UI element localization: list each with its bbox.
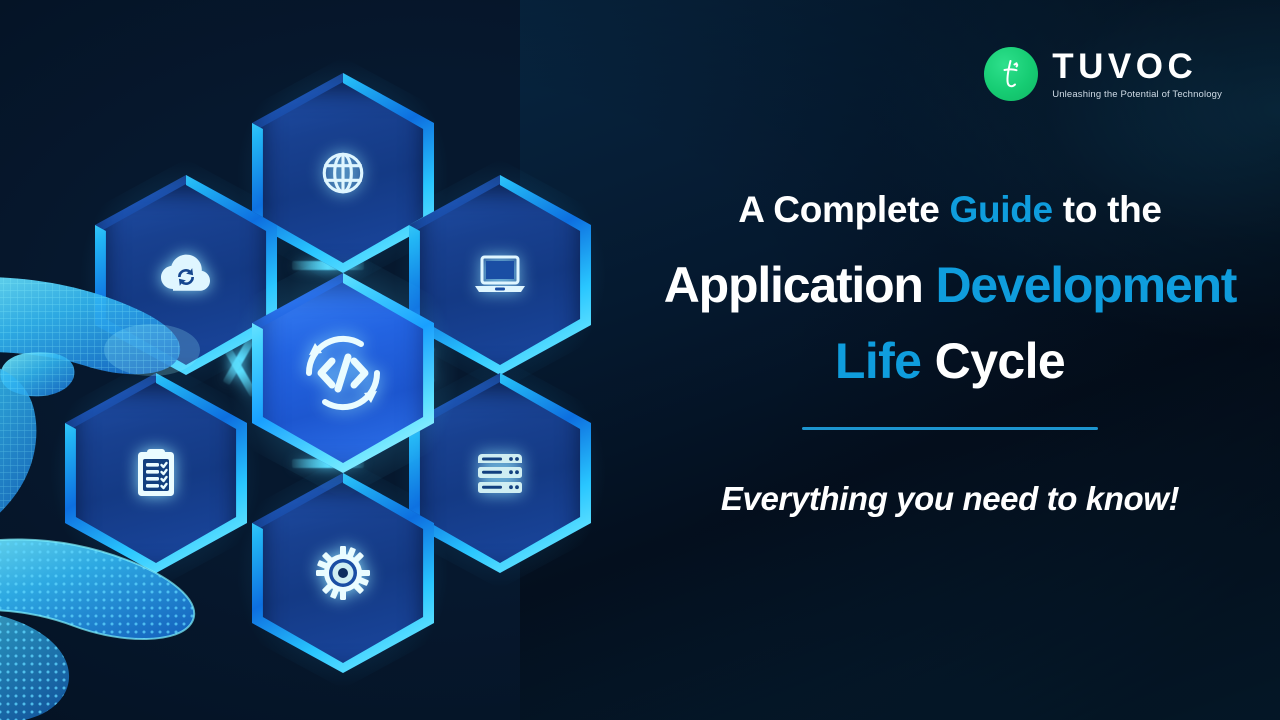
- hex-node-code-cycle[interactable]: [252, 273, 434, 473]
- headline-line-3-accent: Life: [835, 333, 922, 389]
- tuvoc-mark-icon: [984, 47, 1038, 101]
- poster-canvas: TUVOC Unleashing the Potential of Techno…: [0, 0, 1280, 720]
- headline-line-2-part-a: Application: [664, 257, 936, 313]
- hex-node-gear[interactable]: [252, 473, 434, 673]
- wireframe-hand-icon: [0, 262, 242, 720]
- headline-line-3: Life Cycle: [620, 333, 1280, 389]
- laptop-icon: [409, 175, 591, 375]
- headline-line-1: A Complete Guide to the: [620, 190, 1280, 231]
- code-cycle-icon: [252, 273, 434, 473]
- headline-line-1-part-a: A Complete: [738, 189, 949, 230]
- headline-line-2-accent: Development: [935, 257, 1236, 313]
- brand-tagline: Unleashing the Potential of Technology: [1052, 89, 1222, 100]
- hex-node-server[interactable]: [409, 373, 591, 573]
- globe-icon: [252, 73, 434, 273]
- brand-lockup-text: TUVOC Unleashing the Potential of Techno…: [1052, 49, 1222, 100]
- hex-node-laptop[interactable]: [409, 175, 591, 375]
- server-icon: [409, 373, 591, 573]
- headline-block: A Complete Guide to the Application Deve…: [620, 190, 1280, 518]
- hex-node-globe[interactable]: [252, 73, 434, 273]
- headline-divider: [802, 427, 1098, 430]
- headline-line-1-accent: Guide: [949, 189, 1052, 230]
- brand-name: TUVOC: [1052, 49, 1222, 84]
- headline-line-2: Application Development: [620, 257, 1280, 313]
- headline-line-3-part-b: Cycle: [921, 333, 1065, 389]
- headline-line-1-part-b: to the: [1053, 189, 1162, 230]
- brand-logo[interactable]: TUVOC Unleashing the Potential of Techno…: [984, 47, 1222, 101]
- gear-icon: [252, 473, 434, 673]
- subtitle-text: Everything you need to know!: [620, 480, 1280, 518]
